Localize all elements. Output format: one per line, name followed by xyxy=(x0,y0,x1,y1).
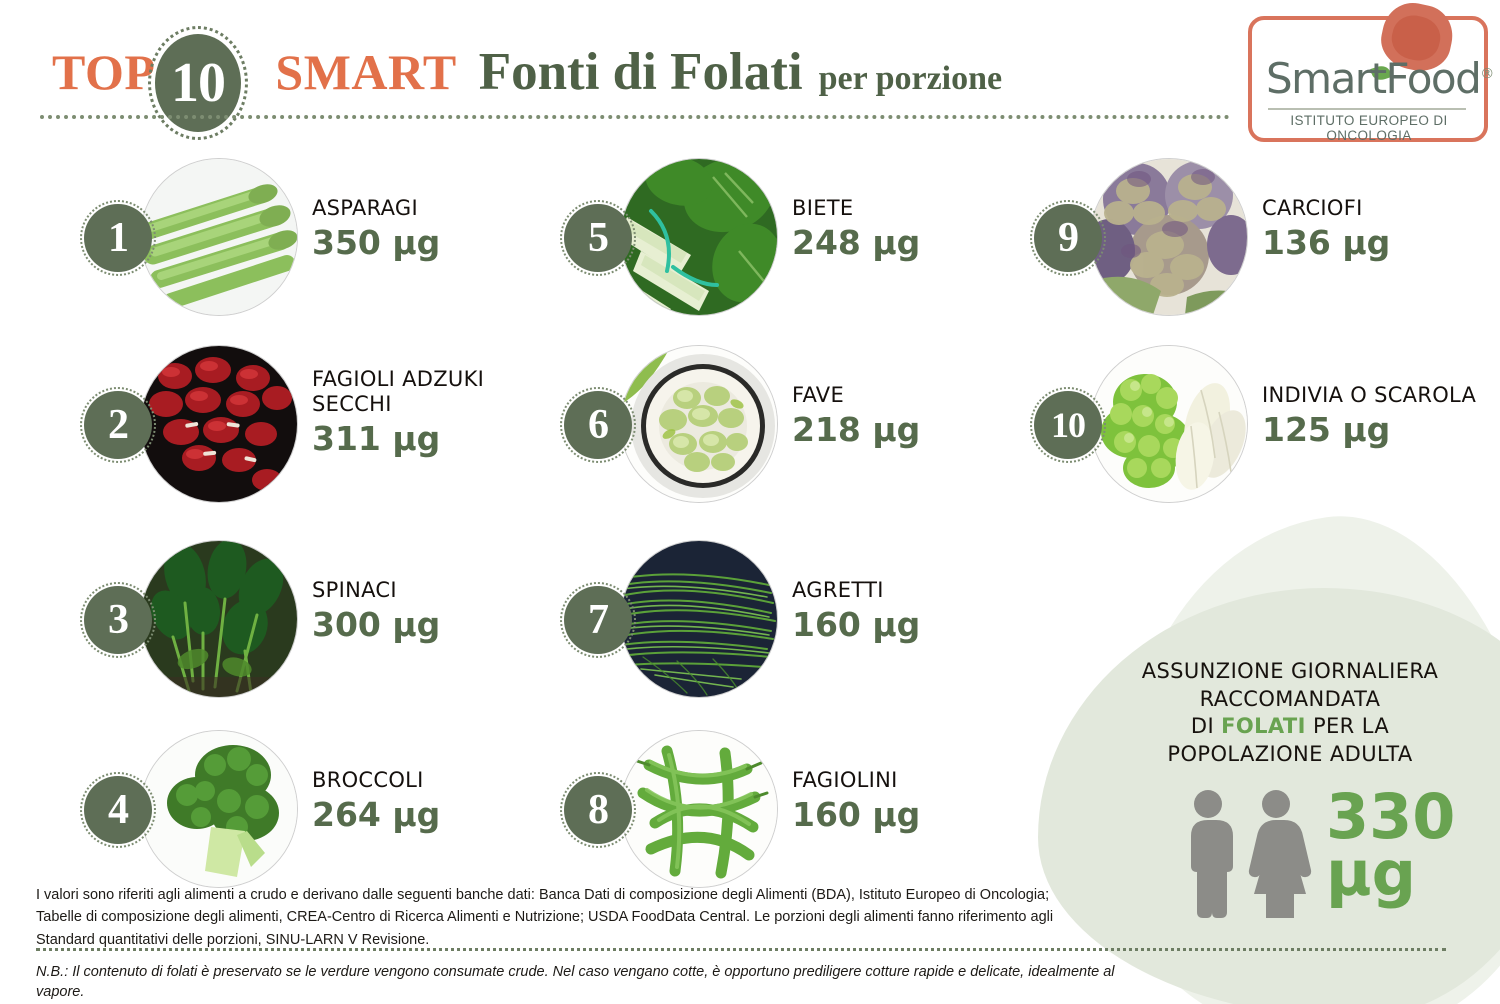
list-item: 3 SPINACI 300 µg xyxy=(40,540,510,730)
food-value: 160 µg xyxy=(792,607,1002,643)
smartfood-logo: SmartFood® ISTITUTO EUROPEO DI ONCOLOGIA xyxy=(1248,16,1488,142)
adult-figures-icon xyxy=(1176,788,1326,918)
page-header: TOP SMART Fonti di Folati per porzione 1… xyxy=(0,0,1500,150)
chard-artwork xyxy=(621,159,777,315)
food-name: AGRETTI xyxy=(792,578,1002,603)
logo-subtitle: ISTITUTO EUROPEO DI ONCOLOGIA xyxy=(1268,113,1470,143)
broccoli-photo xyxy=(140,730,298,888)
badge-number: 10 xyxy=(171,55,225,111)
logo-wordmark-text: SmartFood xyxy=(1266,54,1480,103)
asparagus-artwork xyxy=(141,159,297,315)
food-name: ASPARAGI xyxy=(312,196,522,221)
item-text: CARCIOFI 136 µg xyxy=(1262,196,1472,261)
rank-disc: 8 xyxy=(564,776,632,844)
source-note: I valori sono riferiti agli alimenti a c… xyxy=(36,884,1066,951)
item-text: FAGIOLINI 160 µg xyxy=(792,768,1002,833)
recommended-amount-unit: µg xyxy=(1326,845,1486,902)
food-value: 248 µg xyxy=(792,225,1002,261)
item-text: INDIVIA O SCAROLA 125 µg xyxy=(1262,383,1500,448)
item-text: FAVE 218 µg xyxy=(792,383,1002,448)
logo-divider xyxy=(1268,108,1466,110)
food-name: INDIVIA O SCAROLA xyxy=(1262,383,1500,408)
rank-badge: 8 xyxy=(560,772,636,848)
agretti-artwork xyxy=(621,541,777,697)
rank-disc: 2 xyxy=(84,391,152,459)
broad-beans-photo xyxy=(620,345,778,503)
rank-disc: 4 xyxy=(84,776,152,844)
daily-recommendation-panel: ASSUNZIONE GIORNALIERA RACCOMANDATA DI F… xyxy=(1090,640,1490,970)
asparagus-photo xyxy=(140,158,298,316)
list-item: 7 AGRETTI 160 µg xyxy=(520,540,990,730)
endive-photo xyxy=(1090,345,1248,503)
spinach-artwork xyxy=(141,541,297,697)
list-item: 10 INDIVIA O SCAROLA 125 µg xyxy=(990,345,1490,535)
food-value: 264 µg xyxy=(312,797,522,833)
rank-number: 2 xyxy=(108,404,128,446)
rank-number: 6 xyxy=(588,404,608,446)
adzuki-beans-artwork xyxy=(141,346,297,502)
list-item: 5 BIETE 248 µg xyxy=(520,158,990,348)
recommendation-line-3-post: PER LA xyxy=(1306,714,1389,738)
list-item: 2 FAGIOLI ADZUKI SECCHI 311 µg xyxy=(40,345,510,535)
food-value: 350 µg xyxy=(312,225,522,261)
rank-disc: 3 xyxy=(84,586,152,654)
rank-disc: 6 xyxy=(564,391,632,459)
rank-number: 5 xyxy=(588,217,608,259)
rank-number: 1 xyxy=(108,217,128,259)
source-note-text: I valori sono riferiti agli alimenti a c… xyxy=(36,884,1066,951)
rank-disc: 1 xyxy=(84,204,152,272)
item-text: BROCCOLI 264 µg xyxy=(312,768,522,833)
nb-note-text: N.B.: Il contenuto di folati è preservat… xyxy=(36,962,1136,1003)
broccoli-artwork xyxy=(141,731,297,887)
rank-badge: 10 xyxy=(1030,387,1106,463)
artichokes-artwork xyxy=(1091,159,1247,315)
rank-disc: 9 xyxy=(1034,204,1102,272)
food-name: BROCCOLI xyxy=(312,768,522,793)
food-name: FAVE xyxy=(792,383,1002,408)
artichokes-photo xyxy=(1090,158,1248,316)
food-value: 300 µg xyxy=(312,607,522,643)
rank-number: 3 xyxy=(108,599,128,641)
recommendation-text: ASSUNZIONE GIORNALIERA RACCOMANDATA DI F… xyxy=(1090,658,1490,769)
header-dotted-divider xyxy=(40,115,1230,119)
list-item: 6 FAVE 218 µg xyxy=(520,345,990,535)
food-name: BIETE xyxy=(792,196,1002,221)
rank-disc: 7 xyxy=(564,586,632,654)
list-item: 9 CARCIOFI 136 µg xyxy=(990,158,1460,348)
rank-disc: 10 xyxy=(1034,391,1102,459)
rank-badge: 7 xyxy=(560,582,636,658)
recommendation-highlight: FOLATI xyxy=(1221,714,1306,738)
rank-badge: 6 xyxy=(560,387,636,463)
list-item: 1 ASPARAGI 350 µg xyxy=(40,158,510,348)
rank-badge: 9 xyxy=(1030,200,1106,276)
title-subtitle: per porzione xyxy=(819,62,1003,96)
rank-number: 8 xyxy=(588,789,608,831)
footer-dotted-divider xyxy=(36,948,1446,951)
rank-badge: 4 xyxy=(80,772,156,848)
rank-disc: 5 xyxy=(564,204,632,272)
rank-number: 10 xyxy=(1051,407,1085,443)
rank-number: 7 xyxy=(588,599,608,641)
item-text: SPINACI 300 µg xyxy=(312,578,522,643)
logo-wordmark: SmartFood® xyxy=(1266,58,1470,100)
food-name: CARCIOFI xyxy=(1262,196,1472,221)
food-value: 160 µg xyxy=(792,797,1002,833)
rank-badge: 5 xyxy=(560,200,636,276)
title-rank-badge: 10 xyxy=(148,26,248,140)
endive-artwork xyxy=(1091,346,1247,502)
agretti-photo xyxy=(620,540,778,698)
recommendation-line-3-pre: DI xyxy=(1191,714,1221,738)
food-value: 136 µg xyxy=(1262,225,1472,261)
recommended-amount: 330 µg xyxy=(1326,788,1486,902)
food-value: 311 µg xyxy=(312,421,522,457)
spinach-photo xyxy=(140,540,298,698)
food-name: SPINACI xyxy=(312,578,522,603)
recommendation-line-2: RACCOMANDATA xyxy=(1200,687,1381,711)
green-beans-photo xyxy=(620,730,778,888)
food-value: 125 µg xyxy=(1262,412,1500,448)
adzuki-beans-photo xyxy=(140,345,298,503)
item-text: ASPARAGI 350 µg xyxy=(312,196,522,261)
item-text: BIETE 248 µg xyxy=(792,196,1002,261)
green-beans-artwork xyxy=(621,731,777,887)
food-name: FAGIOLINI xyxy=(792,768,1002,793)
item-text: AGRETTI 160 µg xyxy=(792,578,1002,643)
item-text: FAGIOLI ADZUKI SECCHI 311 µg xyxy=(312,367,522,457)
registered-mark-icon: ® xyxy=(1480,66,1493,82)
recommendation-line-1: ASSUNZIONE GIORNALIERA xyxy=(1142,659,1439,683)
title-main: Fonti di Folati xyxy=(479,46,803,99)
food-value: 218 µg xyxy=(792,412,1002,448)
title-top-label: TOP xyxy=(52,47,155,97)
rank-badge: 1 xyxy=(80,200,156,276)
rank-number: 9 xyxy=(1058,217,1078,259)
rank-number: 4 xyxy=(108,789,128,831)
food-name: FAGIOLI ADZUKI SECCHI xyxy=(312,367,522,417)
chard-photo xyxy=(620,158,778,316)
title-smart-label: SMART xyxy=(275,47,456,97)
rank-badge: 2 xyxy=(80,387,156,463)
recommendation-line-4: POPOLAZIONE ADULTA xyxy=(1167,742,1412,766)
rank-badge: 3 xyxy=(80,582,156,658)
broad-beans-artwork xyxy=(621,346,777,502)
